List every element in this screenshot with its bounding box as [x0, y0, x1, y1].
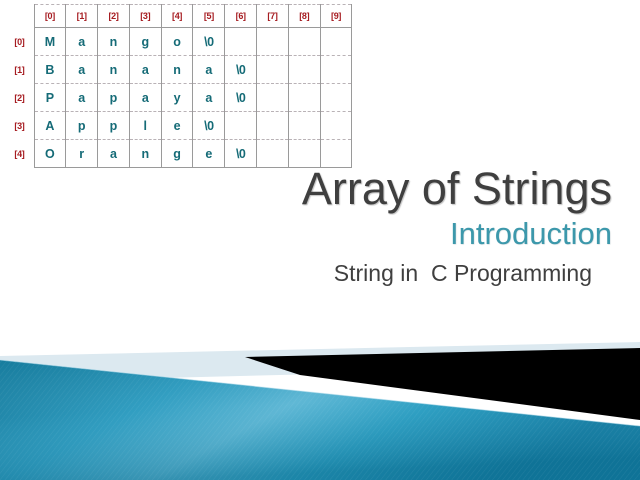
row-header-3: [3] — [4, 112, 34, 140]
slide-canvas: [0] [1] [2] [3] [4] [5] [6] [7] [8] [9] … — [0, 0, 640, 480]
cell-2-7 — [257, 84, 289, 112]
cell-3-9 — [320, 112, 352, 140]
cell-1-8 — [288, 56, 320, 84]
cell-3-8 — [288, 112, 320, 140]
column-header-4: [4] — [161, 5, 193, 28]
column-header-2: [2] — [98, 5, 130, 28]
cell-0-9 — [320, 28, 352, 56]
cell-1-3: a — [129, 56, 161, 84]
cell-1-6: \0 — [225, 56, 257, 84]
slide-tagline: String in C Programming — [0, 259, 592, 289]
banner-svg — [0, 330, 640, 480]
column-header-7: [7] — [257, 5, 289, 28]
cell-2-8 — [288, 84, 320, 112]
cell-4-0: O — [34, 140, 66, 168]
cell-2-9 — [320, 84, 352, 112]
cell-4-2: a — [98, 140, 130, 168]
grid-row-0: [0] M a n g o \0 — [4, 28, 352, 56]
grid-corner-spacer — [4, 5, 34, 28]
slide-subtitle: Introduction — [0, 215, 612, 253]
cell-3-4: e — [161, 112, 193, 140]
column-header-row: [0] [1] [2] [3] [4] [5] [6] [7] [8] [9] — [4, 5, 352, 28]
slide-title: Array of Strings — [0, 166, 612, 213]
cell-0-1: a — [66, 28, 98, 56]
cell-0-3: g — [129, 28, 161, 56]
cell-4-4: g — [161, 140, 193, 168]
column-header-0: [0] — [34, 5, 66, 28]
cell-1-1: a — [66, 56, 98, 84]
row-header-1: [1] — [4, 56, 34, 84]
cell-1-2: n — [98, 56, 130, 84]
cell-2-5: a — [193, 84, 225, 112]
cell-4-1: r — [66, 140, 98, 168]
column-header-1: [1] — [66, 5, 98, 28]
cell-0-2: n — [98, 28, 130, 56]
row-header-0: [0] — [4, 28, 34, 56]
cell-1-4: n — [161, 56, 193, 84]
cell-0-8 — [288, 28, 320, 56]
cell-3-0: A — [34, 112, 66, 140]
cell-4-3: n — [129, 140, 161, 168]
cell-3-1: p — [66, 112, 98, 140]
array-of-strings-diagram: [0] [1] [2] [3] [4] [5] [6] [7] [8] [9] … — [4, 4, 354, 168]
column-header-6: [6] — [225, 5, 257, 28]
cell-3-2: p — [98, 112, 130, 140]
cell-0-5: \0 — [193, 28, 225, 56]
grid-row-4: [4] O r a n g e \0 — [4, 140, 352, 168]
cell-2-2: p — [98, 84, 130, 112]
row-header-2: [2] — [4, 84, 34, 112]
cell-0-7 — [257, 28, 289, 56]
grid-row-1: [1] B a n a n a \0 — [4, 56, 352, 84]
cell-2-0: P — [34, 84, 66, 112]
cell-2-1: a — [66, 84, 98, 112]
cell-1-0: B — [34, 56, 66, 84]
cell-2-3: a — [129, 84, 161, 112]
column-header-8: [8] — [288, 5, 320, 28]
cell-4-7 — [257, 140, 289, 168]
row-header-4: [4] — [4, 140, 34, 168]
cell-3-6 — [225, 112, 257, 140]
bottom-decorative-banner — [0, 330, 640, 480]
cell-1-5: a — [193, 56, 225, 84]
column-header-9: [9] — [320, 5, 352, 28]
cell-2-6: \0 — [225, 84, 257, 112]
cell-0-0: M — [34, 28, 66, 56]
cell-3-7 — [257, 112, 289, 140]
title-block: Array of Strings Introduction String in … — [0, 166, 612, 289]
cell-0-4: o — [161, 28, 193, 56]
cell-0-6 — [225, 28, 257, 56]
cell-2-4: y — [161, 84, 193, 112]
array-grid-table: [0] [1] [2] [3] [4] [5] [6] [7] [8] [9] … — [4, 4, 352, 168]
cell-1-7 — [257, 56, 289, 84]
grid-row-3: [3] A p p l e \0 — [4, 112, 352, 140]
column-header-5: [5] — [193, 5, 225, 28]
grid-row-2: [2] P a p a y a \0 — [4, 84, 352, 112]
cell-4-6: \0 — [225, 140, 257, 168]
cell-1-9 — [320, 56, 352, 84]
cell-3-3: l — [129, 112, 161, 140]
cell-3-5: \0 — [193, 112, 225, 140]
column-header-3: [3] — [129, 5, 161, 28]
cell-4-5: e — [193, 140, 225, 168]
